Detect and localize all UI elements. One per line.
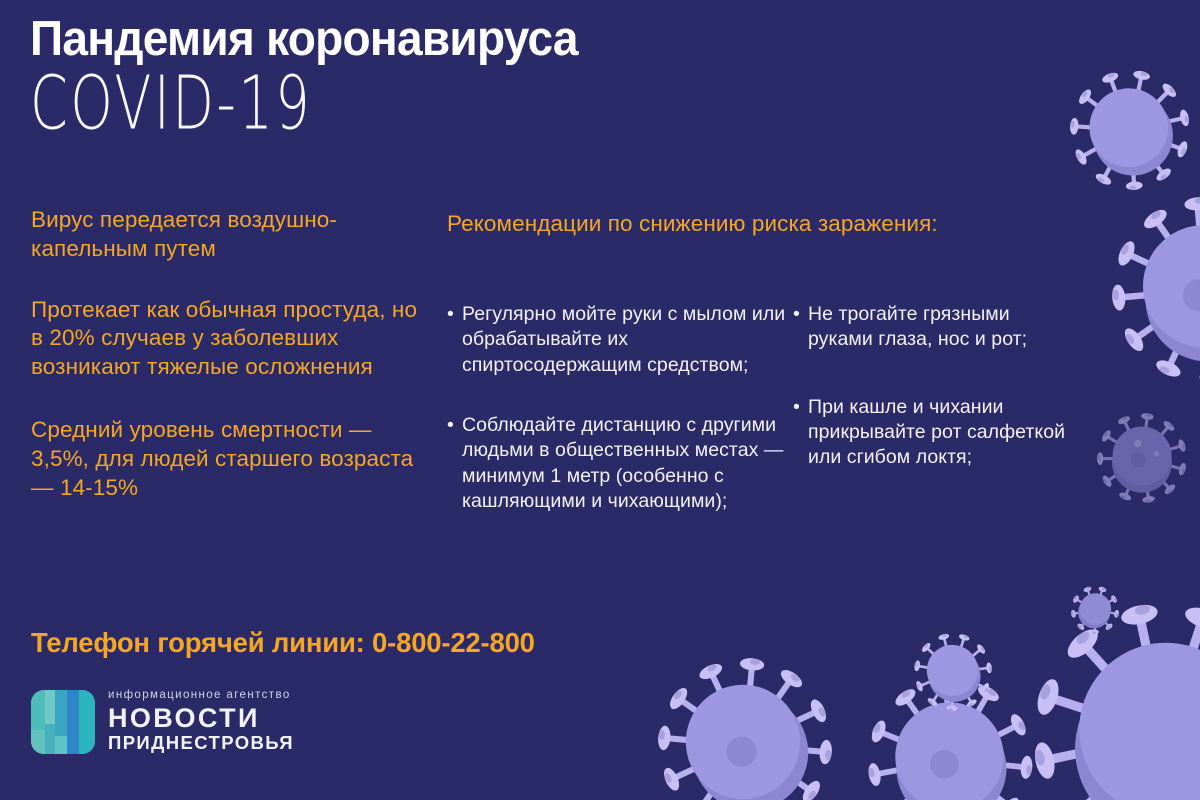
logo-mark-bar: [79, 690, 95, 754]
recommendations-heading: Рекомендации по снижению риска заражения…: [447, 209, 967, 238]
logo-mark-notch: [45, 690, 55, 724]
list-item-label: При кашле и чихании прикрывайте рот салф…: [808, 396, 1065, 469]
hotline-text: Телефон горячей линии: 0-800-22-800: [31, 627, 535, 659]
fact-transmission: Вирус передается воздушно-капельным путе…: [31, 206, 431, 264]
logo-mark-icon: [31, 690, 95, 754]
bullet-marker-icon: •: [447, 413, 454, 438]
page-title: Пандемия коронавируса: [30, 14, 782, 65]
poster-header: Пандемия коронавируса COVID-19: [30, 14, 830, 133]
logo-mark-notch: [31, 730, 45, 754]
list-item: • Соблюдайте дистанцию с другими людьми …: [447, 413, 787, 514]
bullet-marker-icon: •: [793, 395, 800, 420]
fact-symptoms: Протекает как обычная простуда, но в 20%…: [31, 296, 431, 382]
logo-mark-bar: [67, 690, 79, 754]
bullet-marker-icon: •: [447, 302, 454, 327]
list-item-label: Не трогайте грязными руками глаза, нос и…: [808, 303, 1027, 350]
page-subtitle: COVID-19: [30, 67, 686, 141]
list-item-label: Регулярно мойте руки с мылом или обрабат…: [462, 303, 785, 376]
list-item-label: Соблюдайте дистанцию с другими людьми в …: [462, 414, 783, 512]
logo-wordmark: информационное агентство НОВОСТИ ПРИДНЕС…: [108, 690, 294, 753]
list-item: • Не трогайте грязными руками глаза, нос…: [793, 302, 1073, 353]
logo-name-primary: НОВОСТИ: [108, 705, 294, 733]
logo-agency-label: информационное агентство: [108, 690, 294, 702]
bullet-marker-icon: •: [793, 302, 800, 327]
recommendations-column-right: • Не трогайте грязными руками глаза, нос…: [793, 302, 1073, 471]
list-item: • Регулярно мойте руки с мылом или обраб…: [447, 302, 787, 378]
logo-name-secondary: ПРИДНЕСТРОВЬЯ: [108, 733, 294, 753]
fact-mortality: Средний уровень смертности — 3,5%, для л…: [31, 416, 431, 502]
list-item: • При кашле и чихании прикрывайте рот са…: [793, 395, 1073, 471]
logo-mark-notch: [55, 736, 67, 754]
facts-list: Вирус передается воздушно-капельным путе…: [31, 206, 431, 502]
infographic-poster: Пандемия коронавируса COVID-19 Вирус пер…: [0, 0, 1200, 800]
recommendations-column-left: • Регулярно мойте руки с мылом или обраб…: [447, 302, 787, 549]
content-layer: Пандемия коронавируса COVID-19 Вирус пер…: [0, 0, 1200, 800]
publisher-logo[interactable]: информационное агентство НОВОСТИ ПРИДНЕС…: [31, 690, 294, 754]
